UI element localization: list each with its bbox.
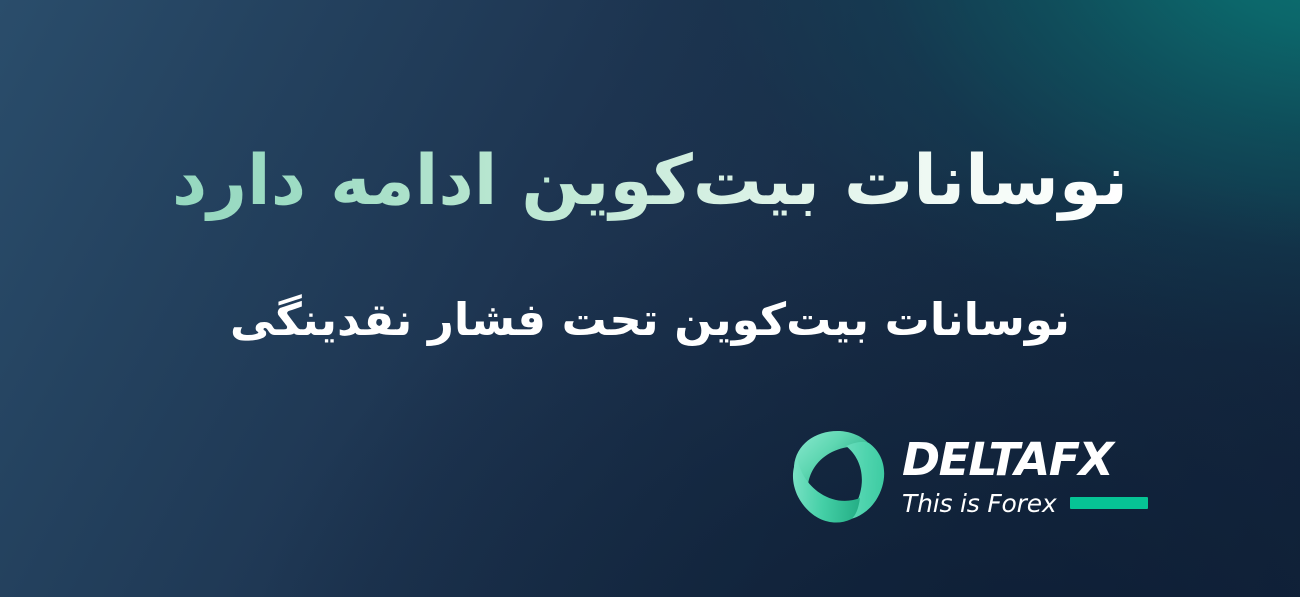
logo-wordmark: DELTAFX xyxy=(902,437,1153,482)
logo-tagline-row: This is Forex xyxy=(902,491,1148,516)
deltafx-logo-mark-icon xyxy=(788,424,888,528)
promo-banner: نوسانات بیت‌کوین ادامه دارد نوسانات بیت‌… xyxy=(0,0,1300,597)
subheadline-text: نوسانات بیت‌کوین تحت فشار نقدینگی xyxy=(168,291,1132,350)
logo-text-block: DELTAFX This is Forex xyxy=(902,437,1148,516)
logo-tagline: This is Forex xyxy=(902,491,1056,516)
logo-accent-dash xyxy=(1070,497,1148,509)
deltafx-logo[interactable]: DELTAFX This is Forex xyxy=(788,424,1148,528)
headline-text: نوسانات بیت‌کوین ادامه دارد xyxy=(168,139,1132,223)
